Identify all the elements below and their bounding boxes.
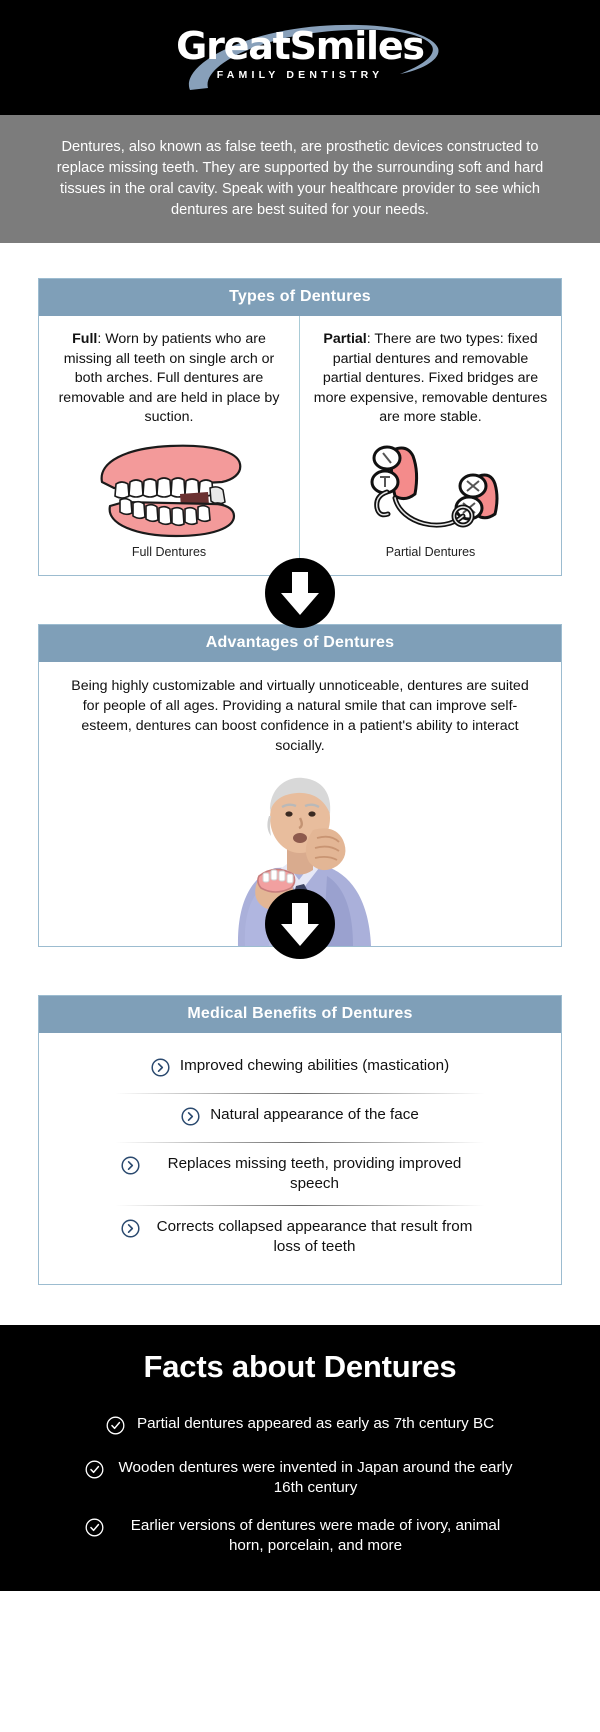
chevron-right-circle-icon — [121, 1219, 140, 1243]
intro-band: Dentures, also known as false teeth, are… — [0, 115, 600, 243]
fact-label: Wooden dentures were invented in Japan a… — [116, 1458, 516, 1498]
fact-item: Wooden dentures were invented in Japan a… — [26, 1449, 574, 1507]
benefit-label: Improved chewing abilities (mastication) — [180, 1056, 449, 1076]
check-circle-icon — [85, 1460, 104, 1484]
benefit-label: Replaces missing teeth, providing improv… — [150, 1154, 480, 1194]
benefits-list: Improved chewing abilities (mastication)… — [39, 1033, 561, 1284]
full-denture-caption: Full Dentures — [51, 545, 287, 565]
fact-label: Partial dentures appeared as early as 7t… — [137, 1414, 494, 1434]
partial-denture-figure — [312, 428, 549, 545]
partial-denture-illustration — [351, 436, 511, 541]
fact-item: Earlier versions of dentures were made o… — [26, 1507, 574, 1565]
full-denture-illustration — [84, 436, 254, 541]
fact-label: Earlier versions of dentures were made o… — [116, 1516, 516, 1556]
benefit-item: Improved chewing abilities (mastication) — [57, 1045, 543, 1093]
partial-denture-text: Partial: There are two types: fixed part… — [312, 330, 549, 428]
full-denture-text: Full: Worn by patients who are missing a… — [51, 330, 287, 428]
chevron-right-circle-icon — [151, 1058, 170, 1082]
facts-title: Facts about Dentures — [26, 1349, 574, 1385]
types-title: Types of Dentures — [39, 279, 561, 316]
full-denture-lead: Full — [72, 331, 97, 347]
benefit-label: Natural appearance of the face — [210, 1105, 419, 1125]
partial-denture-caption: Partial Dentures — [312, 545, 549, 565]
benefit-label: Corrects collapsed appearance that resul… — [150, 1217, 480, 1257]
intro-text: Dentures, also known as false teeth, are… — [46, 137, 554, 221]
benefits-title: Medical Benefits of Dentures — [39, 996, 561, 1033]
types-column-partial: Partial: There are two types: fixed part… — [300, 316, 561, 575]
benefits-section: Medical Benefits of Dentures Improved ch… — [0, 995, 600, 1285]
check-circle-icon — [85, 1518, 104, 1542]
advantages-title: Advantages of Dentures — [39, 625, 561, 662]
chevron-right-circle-icon — [121, 1156, 140, 1180]
check-circle-icon — [106, 1416, 125, 1440]
chevron-right-circle-icon — [181, 1107, 200, 1131]
arrow-down-circle-icon — [265, 889, 335, 959]
benefit-item: Corrects collapsed appearance that resul… — [57, 1206, 543, 1268]
fact-item: Partial dentures appeared as early as 7t… — [26, 1405, 574, 1449]
benefit-item: Natural appearance of the face — [57, 1094, 543, 1142]
brand-name: GreatSmiles — [150, 26, 450, 66]
brand-name-part2: Smiles — [290, 24, 424, 68]
partial-denture-lead: Partial — [323, 331, 366, 347]
brand-logo: GreatSmiles FAMILY DENTISTRY — [150, 18, 450, 98]
full-denture-figure — [51, 428, 287, 545]
types-card: Types of Dentures Full: Worn by patients… — [38, 278, 562, 576]
facts-section: Facts about Dentures Partial dentures ap… — [0, 1325, 600, 1591]
logo-band: GreatSmiles FAMILY DENTISTRY — [0, 0, 600, 115]
arrow-down-circle-icon — [265, 558, 335, 628]
advantages-section: Advantages of Dentures Being highly cust… — [0, 624, 600, 947]
types-body: Full: Worn by patients who are missing a… — [39, 316, 561, 575]
brand-tagline: FAMILY DENTISTRY — [150, 69, 450, 81]
arrow-down-badge-1 — [265, 558, 335, 628]
benefit-item: Replaces missing teeth, providing improv… — [57, 1143, 543, 1205]
arrow-down-badge-2 — [265, 889, 335, 959]
advantages-text: Being highly customizable and virtually … — [65, 676, 535, 756]
types-column-full: Full: Worn by patients who are missing a… — [39, 316, 300, 575]
types-section: Types of Dentures Full: Worn by patients… — [0, 278, 600, 576]
benefits-card: Medical Benefits of Dentures Improved ch… — [38, 995, 562, 1285]
brand-name-part1: Great — [176, 24, 290, 68]
